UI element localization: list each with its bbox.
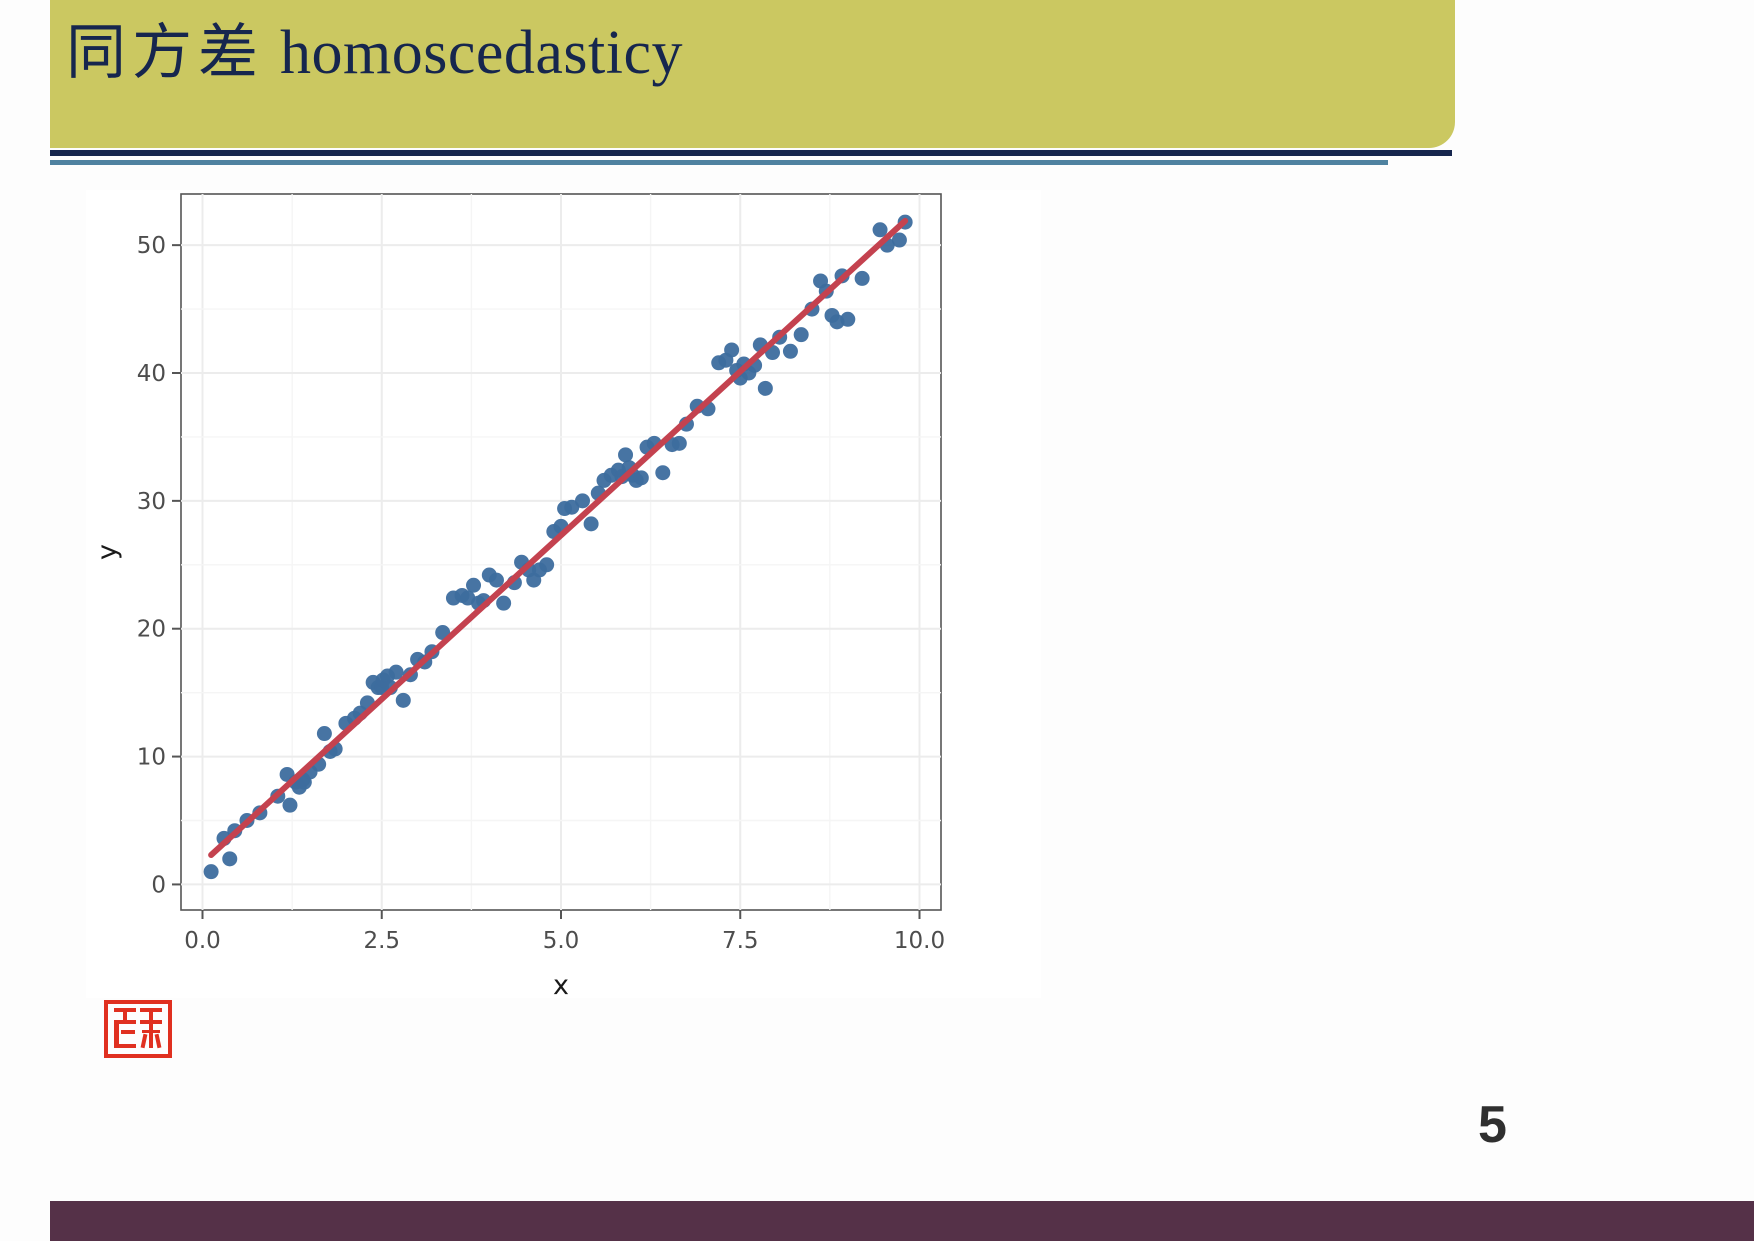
data-point — [634, 470, 649, 485]
data-point — [396, 693, 411, 708]
page-title-cjk: 同方差 — [66, 18, 264, 88]
divider-steel — [50, 160, 1388, 165]
data-point — [204, 864, 219, 879]
red-seal-stamp — [104, 1000, 172, 1058]
x-tick-label: 10.0 — [894, 928, 945, 954]
page-title: 同方差 homoscedasticy — [66, 22, 683, 84]
data-point — [584, 516, 599, 531]
data-point — [783, 344, 798, 359]
x-tick-label: 5.0 — [543, 928, 580, 954]
x-tick-label: 0.0 — [184, 928, 221, 954]
page-number: 5 — [1478, 1095, 1507, 1155]
page-title-latin: homoscedasticy — [280, 19, 683, 87]
y-tick-label: 20 — [137, 617, 166, 643]
y-tick-label: 10 — [137, 745, 166, 771]
data-point — [618, 447, 633, 462]
scatter-plot-figure: 010203040500.02.55.07.510.0 x y — [86, 190, 1041, 998]
y-tick-label: 40 — [137, 361, 166, 387]
data-point — [489, 573, 504, 588]
data-point — [840, 312, 855, 327]
data-point — [758, 381, 773, 396]
data-point — [724, 342, 739, 357]
data-point — [317, 726, 332, 741]
y-tick-label: 0 — [151, 872, 166, 898]
data-point — [539, 557, 554, 572]
x-tick-label: 2.5 — [363, 928, 400, 954]
data-point — [466, 578, 481, 593]
data-point — [655, 465, 670, 480]
x-tick-label: 7.5 — [722, 928, 759, 954]
data-point — [222, 851, 237, 866]
data-point — [794, 327, 809, 342]
bottom-bar — [50, 1201, 1754, 1241]
data-point — [496, 596, 511, 611]
x-axis-label: x — [553, 970, 569, 998]
data-point — [282, 798, 297, 813]
divider-navy — [50, 150, 1452, 156]
data-point — [672, 436, 687, 451]
y-axis-label: y — [92, 544, 123, 560]
data-point — [575, 493, 590, 508]
y-tick-label: 50 — [137, 233, 166, 259]
plot-card: 010203040500.02.55.07.510.0 x y — [86, 190, 1041, 998]
data-point — [855, 271, 870, 286]
y-tick-label: 30 — [137, 489, 166, 515]
